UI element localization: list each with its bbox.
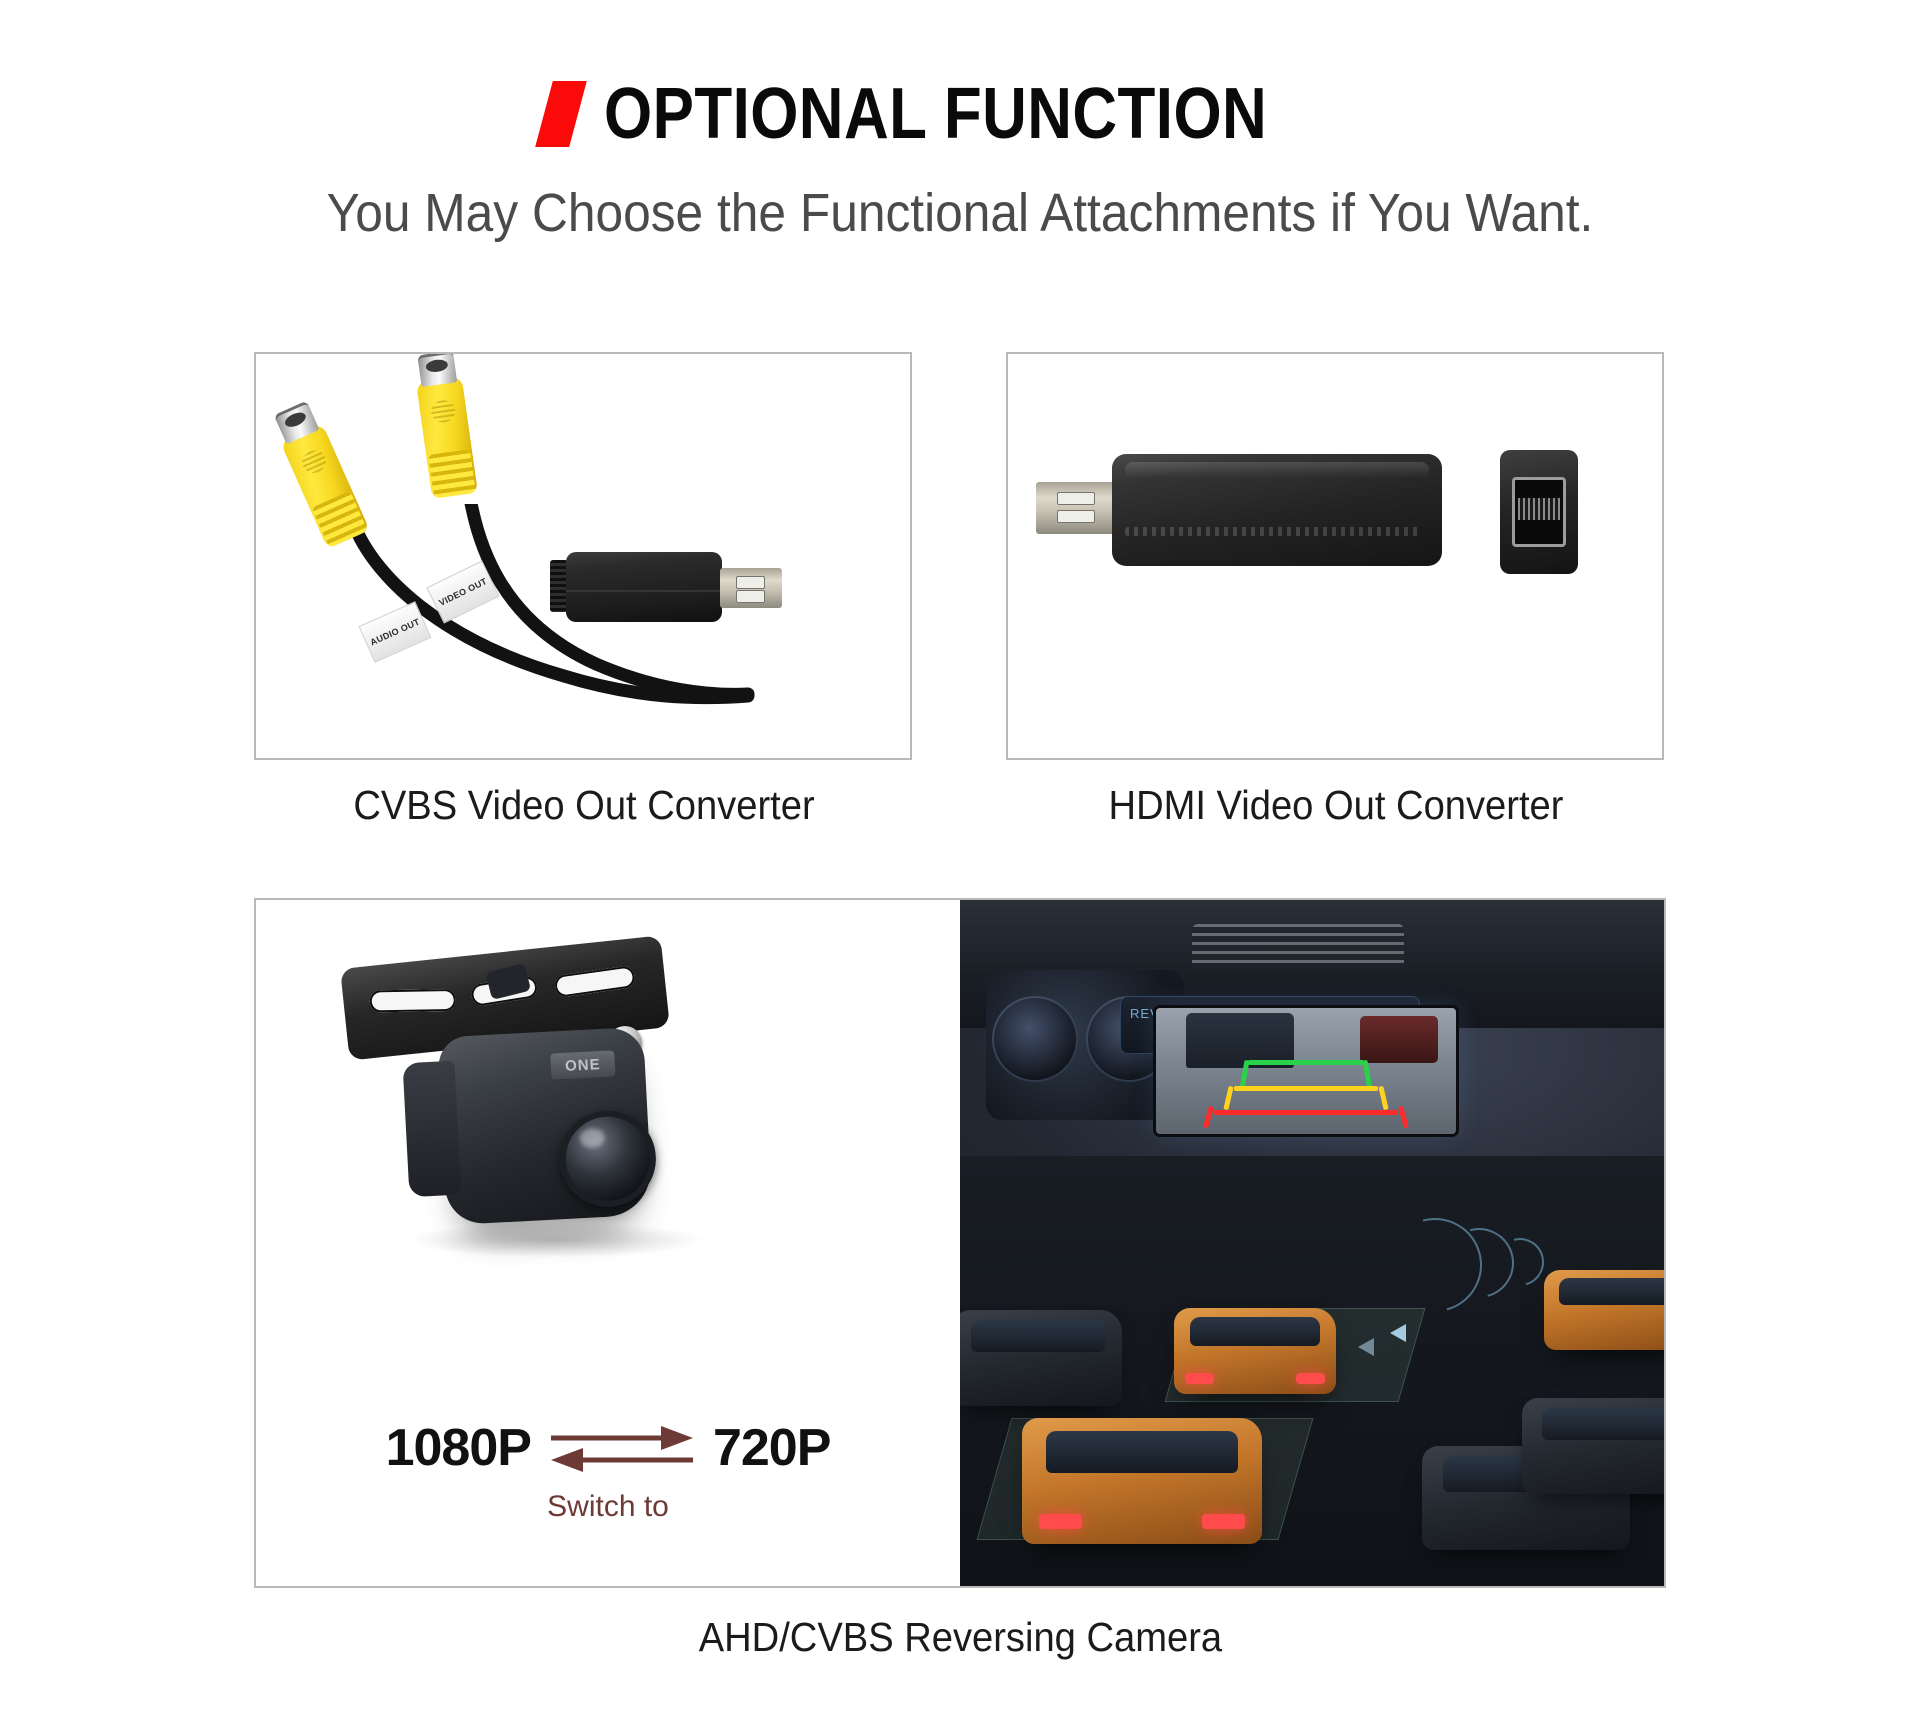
usb-contact-slot — [1057, 510, 1095, 523]
product-card-cvbs: VIDEO OUT AUDIO OUT CVBS Video Out Conve… — [254, 352, 914, 829]
direction-arrow-icon — [1390, 1324, 1406, 1342]
brake-light-left — [1185, 1373, 1214, 1383]
car-orange-right — [1544, 1270, 1664, 1350]
brake-light-left — [1039, 1514, 1082, 1529]
car-windshield — [1190, 1317, 1320, 1346]
usb-contact-slot — [1057, 492, 1095, 505]
bracket-slot — [554, 965, 636, 998]
usb-a-plug — [720, 568, 782, 608]
resolution-to: 720P — [713, 1418, 830, 1478]
camera-section: ONE 1080P 720P Swit — [0, 898, 1920, 1661]
page-title: OPTIONAL FUNCTION — [604, 78, 1267, 150]
rca-metal-ring — [417, 352, 457, 387]
micro-hdmi-port — [1500, 450, 1578, 574]
bracket-slot — [370, 989, 456, 1012]
guideline-bar-far — [1248, 1060, 1364, 1065]
camera-side-housing — [403, 1061, 462, 1198]
car-dark-left — [960, 1310, 1122, 1406]
hdmi-converter-illustration — [1008, 354, 1662, 758]
red-slash-icon — [536, 81, 588, 147]
rca-connector-audio — [280, 421, 373, 550]
rca-grip — [428, 449, 476, 498]
camera-lens — [557, 1108, 658, 1209]
converter-body — [566, 552, 722, 622]
brand-badge: ONE — [550, 1050, 615, 1079]
dashboard-vent — [1192, 924, 1404, 968]
guideline-bar-mid — [1234, 1086, 1378, 1091]
camera-pane: ONE 1080P 720P Swit — [256, 900, 960, 1586]
cvbs-caption: CVBS Video Out Converter — [277, 782, 891, 829]
screen-car-right — [1360, 1016, 1438, 1064]
car-orange-far — [1174, 1308, 1336, 1394]
usb-contact-slot — [736, 590, 765, 603]
switch-to-label: Switch to — [256, 1490, 960, 1524]
product-row: VIDEO OUT AUDIO OUT CVBS Video Out Conve… — [0, 352, 1920, 829]
car-orange-near — [1022, 1418, 1262, 1544]
rca-connector-video — [416, 375, 480, 501]
usb-a-plug — [1036, 482, 1118, 534]
direction-arrow-icon — [1358, 1338, 1374, 1356]
car-windshield — [1542, 1408, 1664, 1441]
usb-contact-slot — [736, 576, 765, 589]
cvbs-photo-box: VIDEO OUT AUDIO OUT — [254, 352, 912, 760]
car-windshield — [1559, 1278, 1664, 1305]
camera-shadow — [406, 1222, 706, 1258]
gauge-dial — [992, 996, 1078, 1082]
promo-page: OPTIONAL FUNCTION You May Choose the Fun… — [0, 0, 1920, 1725]
hdmi-caption: HDMI Video Out Converter — [1029, 782, 1643, 829]
swap-arrows-icon — [549, 1420, 695, 1476]
page-subtitle: You May Choose the Functional Attachment… — [77, 186, 1843, 240]
car-windshield — [971, 1320, 1105, 1353]
car-windshield — [1046, 1431, 1238, 1474]
resolution-switch-line: 1080P 720P — [256, 1418, 960, 1478]
converter-seam — [566, 590, 722, 592]
camera-caption: AHD/CVBS Reversing Camera — [698, 1614, 1221, 1661]
camera-photo-box: ONE 1080P 720P Swit — [254, 898, 1666, 1588]
cvbs-converter-illustration: VIDEO OUT AUDIO OUT — [256, 354, 910, 758]
hdmi-converter-body — [1112, 454, 1442, 566]
camera-body: ONE — [437, 1027, 653, 1226]
resolution-switch-block: 1080P 720P Switch to — [256, 1418, 960, 1524]
product-card-hdmi: HDMI Video Out Converter — [1006, 352, 1666, 829]
body-grooves — [1125, 527, 1422, 536]
brake-light-right — [1296, 1373, 1325, 1383]
hdmi-photo-box — [1006, 352, 1664, 760]
guideline-bar-near — [1214, 1110, 1398, 1115]
body-highlight — [1125, 462, 1429, 478]
reversing-camera-screen — [1156, 1008, 1456, 1134]
reversing-scene: REVERSE — [960, 900, 1664, 1586]
resolution-from: 1080P — [386, 1418, 531, 1478]
title-row: OPTIONAL FUNCTION — [0, 0, 1920, 150]
car-dark-right-back — [1522, 1398, 1664, 1494]
hdmi-port-opening — [1512, 477, 1565, 546]
page-header: OPTIONAL FUNCTION You May Choose the Fun… — [0, 0, 1920, 240]
brake-light-right — [1202, 1514, 1245, 1529]
